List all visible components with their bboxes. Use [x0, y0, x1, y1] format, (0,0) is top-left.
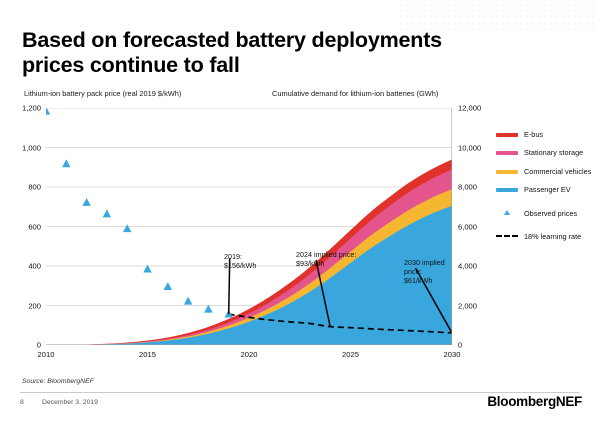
- y-axis-left-tick: 1,000: [22, 143, 41, 152]
- legend-item-commercial-vehicles[interactable]: Commercial vehicles: [496, 167, 596, 176]
- plot-area: [46, 108, 452, 345]
- observed-price-point: [62, 159, 70, 167]
- observed-price-point: [46, 108, 50, 115]
- legend-dashed-line-icon: [496, 235, 518, 237]
- observed-price-point: [103, 209, 111, 217]
- legend-item-observed-prices[interactable]: Observed prices: [496, 209, 596, 218]
- battery-price-demand-chart: 02004006008001,0001,20002,0004,0006,0008…: [46, 108, 452, 345]
- y-axis-right-tick: 2,000: [458, 301, 477, 310]
- y-axis-left-tick: 800: [28, 183, 41, 192]
- y-axis-left-tick: 0: [37, 341, 41, 350]
- x-axis-tick: 2020: [241, 350, 258, 359]
- observed-price-point: [184, 297, 192, 305]
- x-axis-tick: 2025: [342, 350, 359, 359]
- y-axis-right-tick: 12,000: [458, 104, 481, 113]
- x-axis-tick: 2010: [38, 350, 55, 359]
- observed-price-point: [82, 198, 90, 206]
- legend-item-label: Observed prices: [524, 209, 577, 218]
- legend-triangle-icon: [496, 210, 518, 215]
- legend-swatch-icon: [496, 133, 518, 137]
- legend-item-label: Commercial vehicles: [524, 167, 591, 176]
- slide-root: Based on forecasted battery deployments …: [0, 0, 600, 424]
- x-axis-tick: 2030: [444, 350, 461, 359]
- y-axis-right-tick: 8,000: [458, 183, 477, 192]
- legend-item-label: Stationary storage: [524, 148, 583, 157]
- chart-legend: E-busStationary storageCommercial vehicl…: [496, 130, 596, 250]
- legend-item-18-learning-rate[interactable]: 18% learning rate: [496, 232, 596, 241]
- legend-item-label: E-bus: [524, 130, 543, 139]
- legend-item-stationary-storage[interactable]: Stationary storage: [496, 148, 596, 157]
- y-axis-right-tick: 0: [458, 341, 462, 350]
- observed-price-point: [164, 282, 172, 290]
- legend-swatch-icon: [496, 170, 518, 174]
- y-axis-left-tick: 1,200: [22, 104, 41, 113]
- legend-item-label: 18% learning rate: [524, 232, 581, 241]
- source-note: Source: BloombergNEF: [22, 378, 94, 385]
- y-axis-left-tick: 600: [28, 222, 41, 231]
- brand-logo: BloombergNEF: [487, 394, 582, 409]
- footer-divider: [20, 392, 580, 393]
- y-axis-left-tick: 200: [28, 301, 41, 310]
- legend-swatch-icon: [496, 188, 518, 192]
- y-axis-left-tick: 400: [28, 262, 41, 271]
- y-axis-right-tick: 10,000: [458, 143, 481, 152]
- left-axis-caption: Lithium-ion battery pack price (real 201…: [24, 89, 181, 98]
- page-number: 8: [20, 399, 24, 406]
- annotation-a2019: 2019: $156/kWh: [224, 252, 256, 270]
- y-axis-right-tick: 6,000: [458, 222, 477, 231]
- legend-swatch-icon: [496, 151, 518, 155]
- annotation-a2024: 2024 implied price: $93/kWh: [296, 250, 356, 268]
- right-axis-caption: Cumulative demand for lithium-ion batter…: [272, 89, 438, 98]
- y-axis-right-tick: 4,000: [458, 262, 477, 271]
- legend-item-label: Passenger EV: [524, 185, 571, 194]
- legend-item-e-bus[interactable]: E-bus: [496, 130, 596, 139]
- x-axis-tick: 2015: [139, 350, 156, 359]
- page-title: Based on forecasted battery deployments …: [22, 28, 452, 78]
- annotation-a2030: 2030 implied price: $61/kWh: [404, 258, 445, 286]
- observed-price-point: [123, 224, 131, 232]
- triangle-marker-icon: [504, 210, 510, 215]
- legend-item-passenger-ev[interactable]: Passenger EV: [496, 185, 596, 194]
- slide-date: December 3, 2019: [42, 399, 98, 406]
